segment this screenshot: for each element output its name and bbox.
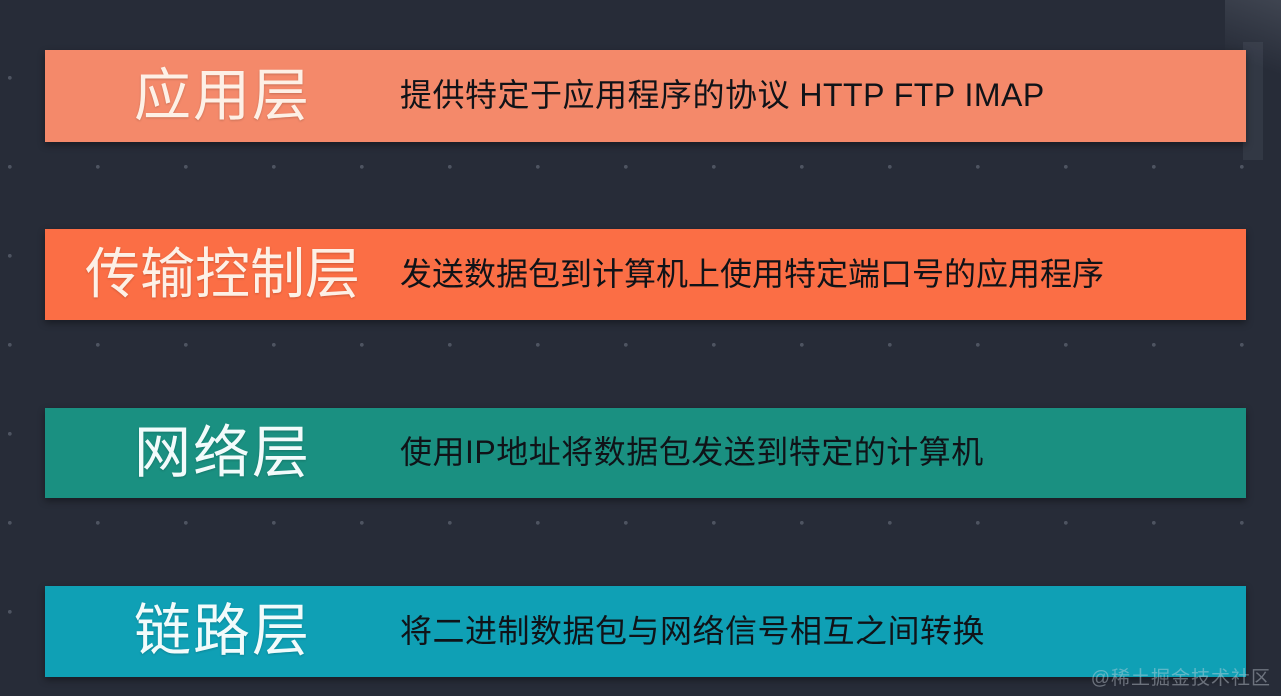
layer-description-network: 使用IP地址将数据包发送到特定的计算机 xyxy=(400,435,1246,471)
layer-name-link: 链路层 xyxy=(45,603,400,660)
layer-description-transport: 发送数据包到计算机上使用特定端口号的应用程序 xyxy=(400,257,1246,293)
layer-description-link: 将二进制数据包与网络信号相互之间转换 xyxy=(400,614,1246,650)
corner-decoration-bar xyxy=(1243,42,1263,160)
layer-name-application: 应用层 xyxy=(45,68,400,125)
layer-description-application: 提供特定于应用程序的协议 HTTP FTP IMAP xyxy=(400,78,1246,114)
layer-row-transport: 传输控制层 发送数据包到计算机上使用特定端口号的应用程序 xyxy=(45,229,1246,320)
layer-row-network: 网络层 使用IP地址将数据包发送到特定的计算机 xyxy=(45,408,1246,498)
layer-row-link: 链路层 将二进制数据包与网络信号相互之间转换 xyxy=(45,586,1246,677)
network-layer-stack: 应用层 提供特定于应用程序的协议 HTTP FTP IMAP 传输控制层 发送数… xyxy=(45,0,1246,696)
slide-canvas: 应用层 提供特定于应用程序的协议 HTTP FTP IMAP 传输控制层 发送数… xyxy=(0,0,1281,696)
layer-name-network: 网络层 xyxy=(45,425,400,482)
layer-row-application: 应用层 提供特定于应用程序的协议 HTTP FTP IMAP xyxy=(45,50,1246,142)
layer-name-transport: 传输控制层 xyxy=(45,247,400,302)
